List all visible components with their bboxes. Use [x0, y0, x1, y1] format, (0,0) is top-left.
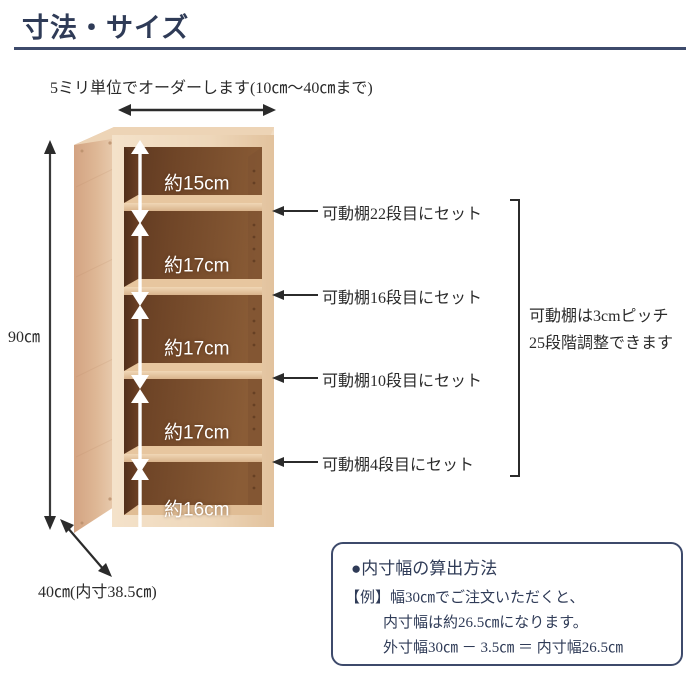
- callout-label: 可動棚16段目にセット: [322, 284, 482, 308]
- width-order-caption: 5ミリ単位でオーダーします(10㎝～40㎝まで): [50, 74, 373, 98]
- leader-arrow-left-icon: [272, 454, 318, 470]
- shelf-pitch-note: 可動棚は3cmピッチ 25段階調整できます: [529, 303, 673, 357]
- depth-dimension-arrow: [56, 515, 116, 581]
- shelf-range-brace: [508, 198, 526, 478]
- info-line-example: 【例】幅30㎝でご注文いただくと、: [345, 586, 623, 611]
- inner-width-calculation-box: ●内寸幅の算出方法 【例】幅30㎝でご注文いただくと、 内寸幅は約26.5㎝にな…: [331, 542, 683, 666]
- info-line-formula: 外寸幅30㎝ － 3.5㎝ ＝ 内寸幅26.5㎝: [345, 636, 623, 661]
- pitch-note-line-2: 25段階調整できます: [529, 330, 673, 357]
- leader-arrow-left-icon: [272, 203, 318, 219]
- pitch-note-line-1: 可動棚は3cmピッチ: [529, 303, 673, 330]
- page-title: 寸法・サイズ: [22, 6, 189, 45]
- info-line-result: 内寸幅は約26.5㎝になります。: [345, 611, 623, 636]
- height-dimension-arrow: [42, 140, 58, 530]
- callout-label: 可動棚10段目にセット: [322, 367, 482, 391]
- leader-arrow-left-icon: [272, 370, 318, 386]
- info-box-body: 【例】幅30㎝でご注文いただくと、 内寸幅は約26.5㎝になります。 外寸幅30…: [345, 586, 623, 661]
- info-box-heading: ●内寸幅の算出方法: [351, 554, 497, 579]
- leader-arrow-left-icon: [272, 287, 318, 303]
- cabinet-illustration: [74, 127, 274, 535]
- callout-label: 可動棚22段目にセット: [322, 200, 482, 224]
- callout-label: 可動棚4段目にセット: [322, 451, 474, 475]
- width-dimension-arrow: [118, 102, 276, 118]
- height-label: 90㎝: [8, 323, 40, 347]
- title-divider: [14, 47, 686, 50]
- depth-label: 40㎝(内寸38.5㎝): [38, 578, 157, 602]
